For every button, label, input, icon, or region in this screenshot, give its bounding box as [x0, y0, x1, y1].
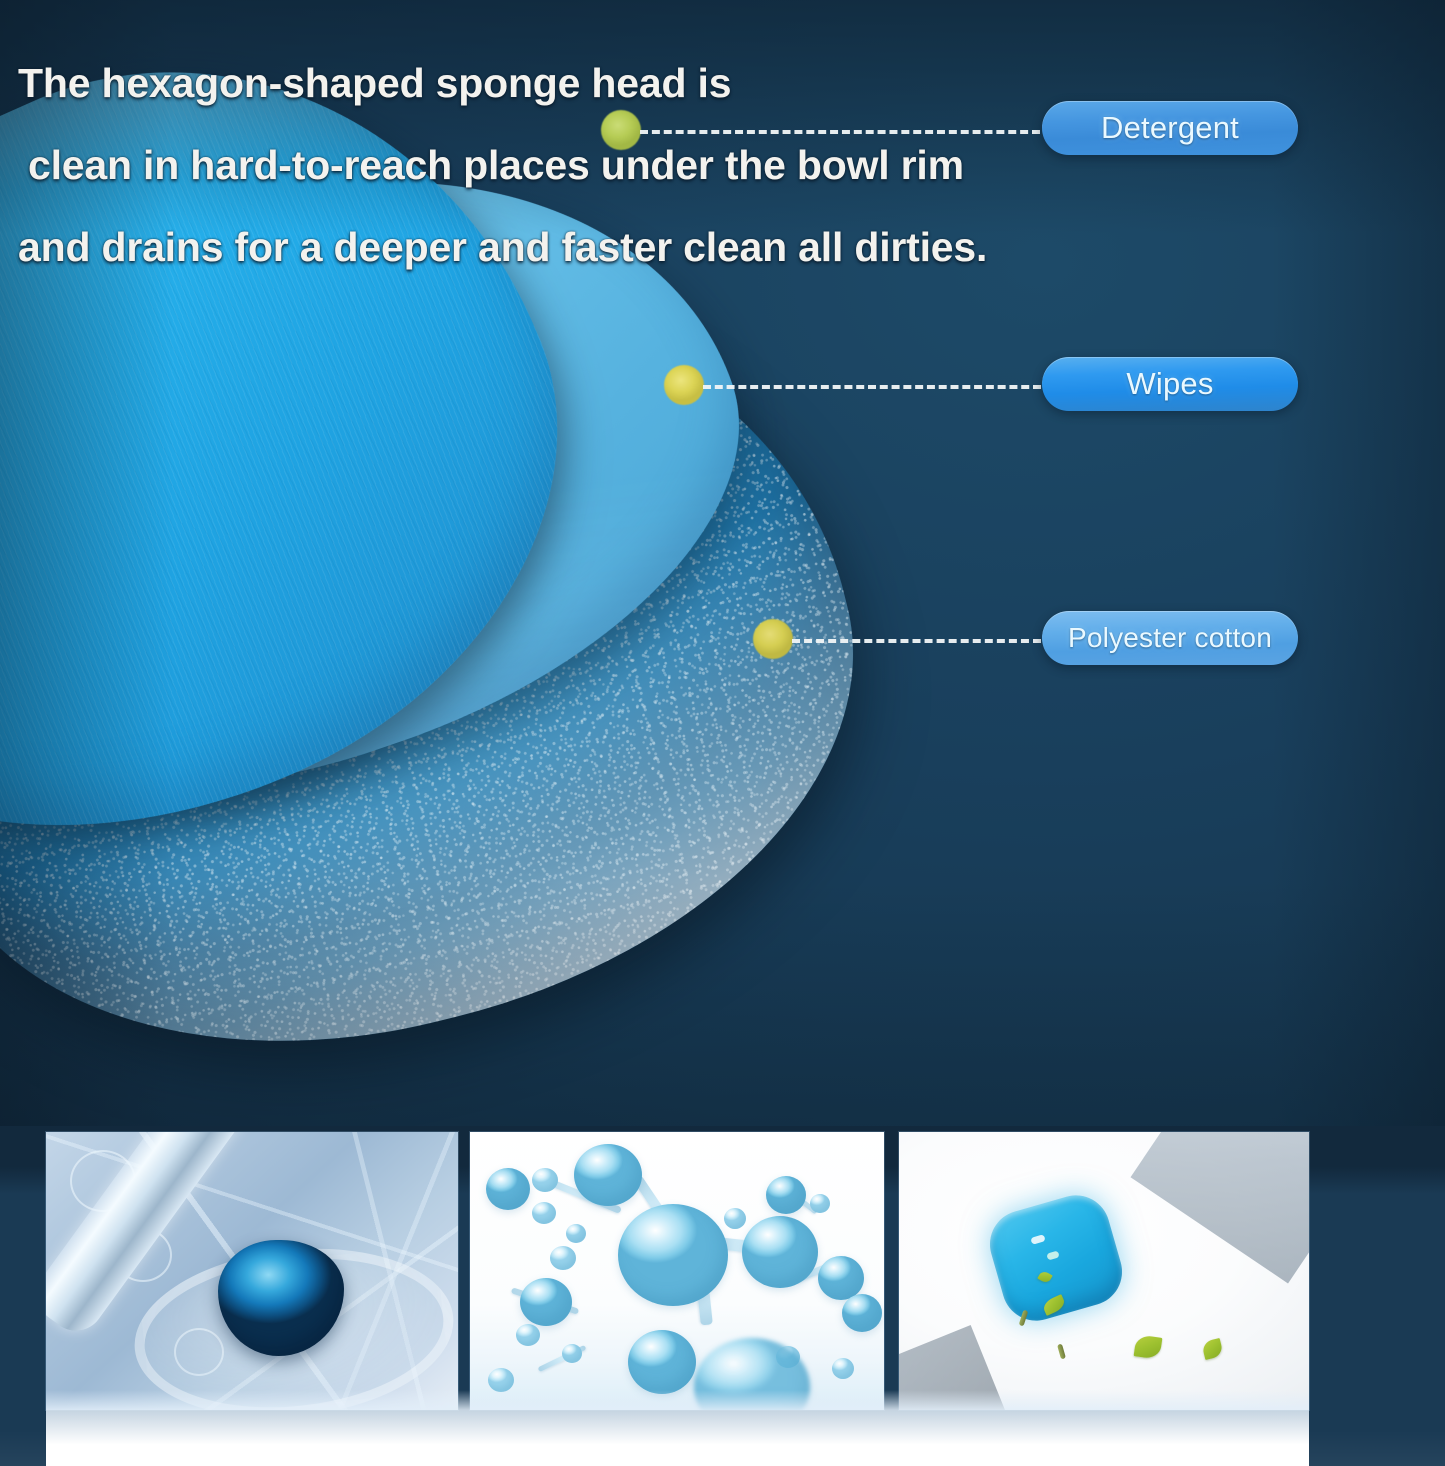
molecule-sphere: [486, 1168, 530, 1210]
headline-line-2: clean in hard-to-reach places under the …: [18, 124, 1178, 206]
molecule-sphere: [842, 1294, 882, 1332]
callout-badge-label-detergent: Detergent: [1101, 110, 1239, 146]
callout-line-wipes: [703, 385, 1041, 389]
gallery-tile-toilet-gel[interactable]: [899, 1132, 1309, 1410]
callout-badge-polyester-cotton[interactable]: Polyester cotton: [1042, 611, 1298, 665]
product-infographic: The hexagon-shaped sponge head is clean …: [0, 0, 1445, 1466]
callout-badge-detergent[interactable]: Detergent: [1042, 101, 1298, 155]
gallery-tile-lab-droplet[interactable]: [46, 1132, 458, 1410]
photo-gallery-strip: [0, 1126, 1445, 1466]
callout-line-detergent: [640, 130, 1040, 134]
molecule-sphere-small: [810, 1194, 830, 1213]
headline: The hexagon-shaped sponge head is clean …: [18, 42, 1178, 288]
headline-line-3: and drains for a deeper and faster clean…: [18, 206, 1178, 288]
callout-badge-label-polyester-cotton: Polyester cotton: [1068, 622, 1272, 654]
molecule-sphere: [618, 1204, 728, 1306]
gallery-tile-molecule[interactable]: [470, 1132, 884, 1410]
headline-line-1: The hexagon-shaped sponge head is: [18, 42, 1178, 124]
molecule-sphere-small: [724, 1208, 746, 1229]
molecule-sphere-small: [516, 1324, 540, 1346]
molecule-sphere: [628, 1330, 696, 1394]
callout-dot-polyester-cotton: [753, 619, 793, 659]
molecule-sphere-small: [832, 1358, 854, 1379]
molecule-sphere: [766, 1176, 806, 1214]
molecule-sphere: [574, 1144, 642, 1206]
molecule-sphere: [520, 1278, 572, 1326]
molecule-sphere-small: [532, 1202, 556, 1224]
callout-line-polyester-cotton: [792, 639, 1041, 643]
callout-dot-detergent: [601, 110, 641, 150]
molecule-sphere-small: [566, 1224, 586, 1243]
callout-badge-label-wipes: Wipes: [1126, 366, 1213, 402]
callout-badge-wipes[interactable]: Wipes: [1042, 357, 1298, 411]
gallery-bottom-fade-overlay: [0, 1406, 1445, 1466]
molecule-sphere-small: [562, 1344, 582, 1363]
molecule-sphere-small: [532, 1168, 558, 1192]
molecule-sphere: [742, 1216, 818, 1288]
molecule-sphere-small: [550, 1246, 576, 1270]
callout-dot-wipes: [664, 365, 704, 405]
molecule-sphere-small: [488, 1368, 514, 1392]
